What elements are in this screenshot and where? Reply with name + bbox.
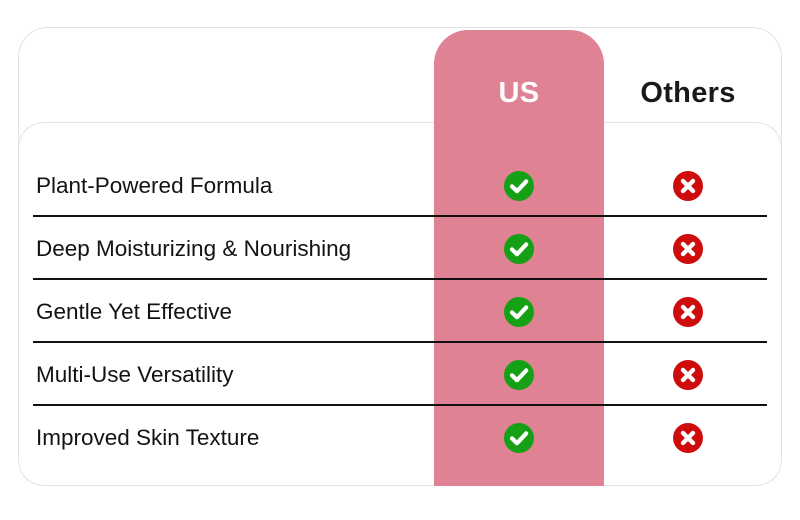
cross-circle-icon (672, 359, 704, 391)
table-row: Deep Moisturizing & Nourishing (19, 217, 781, 280)
cell-others (604, 154, 772, 217)
check-circle-icon (503, 359, 535, 391)
column-header-others: Others (604, 73, 772, 113)
cell-us (434, 280, 604, 343)
row-label: Gentle Yet Effective (36, 280, 232, 343)
row-label: Multi-Use Versatility (36, 343, 234, 406)
cross-circle-icon (672, 422, 704, 454)
cell-others (604, 217, 772, 280)
cell-others (604, 406, 772, 469)
table-row: Improved Skin Texture (19, 406, 781, 469)
table-row: Gentle Yet Effective (19, 280, 781, 343)
cell-others (604, 280, 772, 343)
check-circle-icon (503, 296, 535, 328)
check-circle-icon (503, 170, 535, 202)
cross-circle-icon (672, 296, 704, 328)
row-label: Plant-Powered Formula (36, 154, 272, 217)
cell-us (434, 406, 604, 469)
table-row: Multi-Use Versatility (19, 343, 781, 406)
row-label: Deep Moisturizing & Nourishing (36, 217, 351, 280)
cross-circle-icon (672, 170, 704, 202)
cross-circle-icon (672, 233, 704, 265)
table-row: Plant-Powered Formula (19, 154, 781, 217)
cell-us (434, 343, 604, 406)
column-header-us: US (434, 73, 604, 113)
row-label: Improved Skin Texture (36, 406, 259, 469)
check-circle-icon (503, 233, 535, 265)
comparison-table-root: US Others Plant-Powered Formula Deep Moi… (0, 0, 800, 520)
cell-us (434, 217, 604, 280)
cell-others (604, 343, 772, 406)
cell-us (434, 154, 604, 217)
check-circle-icon (503, 422, 535, 454)
